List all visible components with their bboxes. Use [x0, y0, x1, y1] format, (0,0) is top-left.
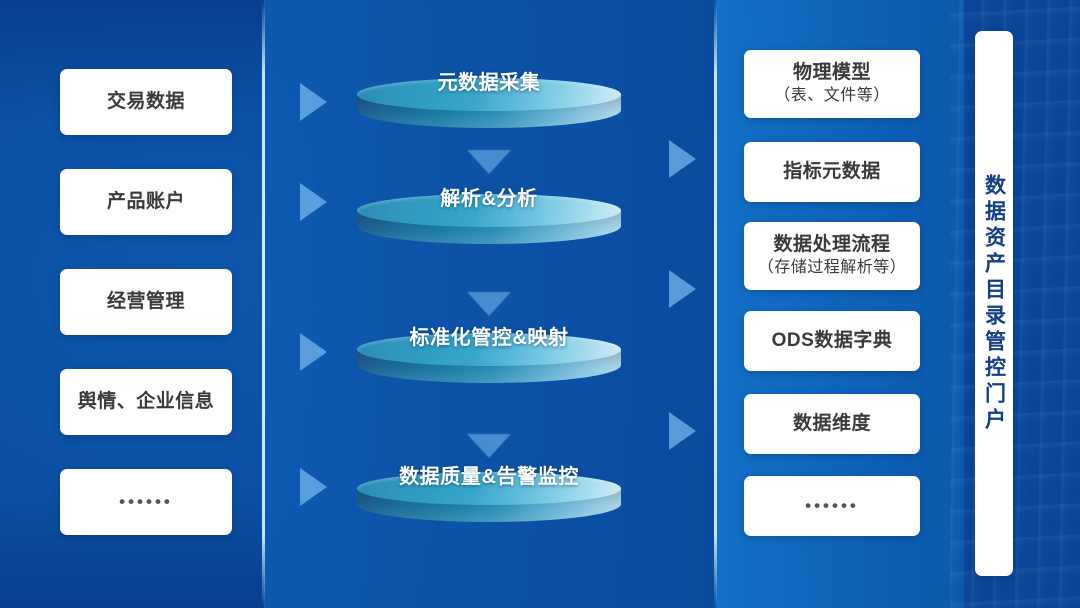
diagram-canvas: 交易数据 产品账户 经营管理 舆情、企业信息 •••••• 元数据采集 解析&分…: [0, 0, 1080, 608]
list-item[interactable]: 舆情、企业信息: [60, 369, 232, 435]
pipeline-stage-label: 解析&分析: [357, 182, 621, 211]
card-title: 数据维度: [793, 412, 871, 436]
list-item[interactable]: 经营管理: [60, 269, 232, 335]
ellipsis-label: ••••••: [805, 495, 859, 517]
card-subtitle: （表、文件等）: [774, 86, 890, 106]
card-subtitle: （存储过程解析等）: [758, 258, 907, 278]
list-item[interactable]: 数据维度: [744, 394, 920, 454]
card-title: 经营管理: [107, 290, 185, 314]
triangle-right-icon: [300, 468, 327, 506]
card-title: 指标元数据: [783, 160, 881, 184]
list-item[interactable]: 交易数据: [60, 69, 232, 135]
portal-panel[interactable]: 数据资产目录管控门户: [975, 31, 1013, 576]
card-title: 物理模型: [793, 61, 871, 85]
triangle-right-icon: [300, 183, 327, 221]
background-texture-waves: [950, 0, 1080, 608]
divider-left: [262, 0, 265, 608]
list-item[interactable]: 指标元数据: [744, 142, 920, 202]
triangle-right-icon: [669, 412, 696, 450]
triangle-down-icon: [467, 292, 511, 316]
triangle-right-icon: [669, 140, 696, 178]
pipeline-stage[interactable]: 数据质量&告警监控: [357, 472, 621, 534]
pipeline-stage[interactable]: 解析&分析: [357, 194, 621, 256]
triangle-down-icon: [467, 434, 511, 458]
list-item[interactable]: 产品账户: [60, 169, 232, 235]
pipeline-stage[interactable]: 标准化管控&映射: [357, 333, 621, 395]
list-item[interactable]: 数据处理流程 （存储过程解析等）: [744, 222, 920, 290]
pipeline-stage[interactable]: 元数据采集: [357, 78, 621, 140]
card-title: 数据处理流程: [773, 233, 890, 257]
portal-label: 数据资产目录管控门户: [984, 174, 1005, 434]
list-item[interactable]: ••••••: [744, 476, 920, 536]
ellipsis-label: ••••••: [119, 491, 173, 513]
triangle-down-icon: [467, 150, 511, 174]
card-title: ODS数据字典: [772, 329, 893, 353]
list-item[interactable]: ••••••: [60, 469, 232, 535]
pipeline-stage-label: 元数据采集: [357, 66, 621, 95]
card-title: 舆情、企业信息: [78, 390, 215, 414]
triangle-right-icon: [300, 83, 327, 121]
triangle-right-icon: [669, 270, 696, 308]
list-item[interactable]: ODS数据字典: [744, 311, 920, 371]
list-item[interactable]: 物理模型 （表、文件等）: [744, 50, 920, 118]
pipeline-stage-label: 标准化管控&映射: [357, 321, 621, 350]
card-title: 交易数据: [107, 90, 185, 114]
divider-right: [714, 0, 717, 608]
pipeline-stage-label: 数据质量&告警监控: [357, 460, 621, 489]
triangle-right-icon: [300, 333, 327, 371]
card-title: 产品账户: [107, 190, 185, 214]
